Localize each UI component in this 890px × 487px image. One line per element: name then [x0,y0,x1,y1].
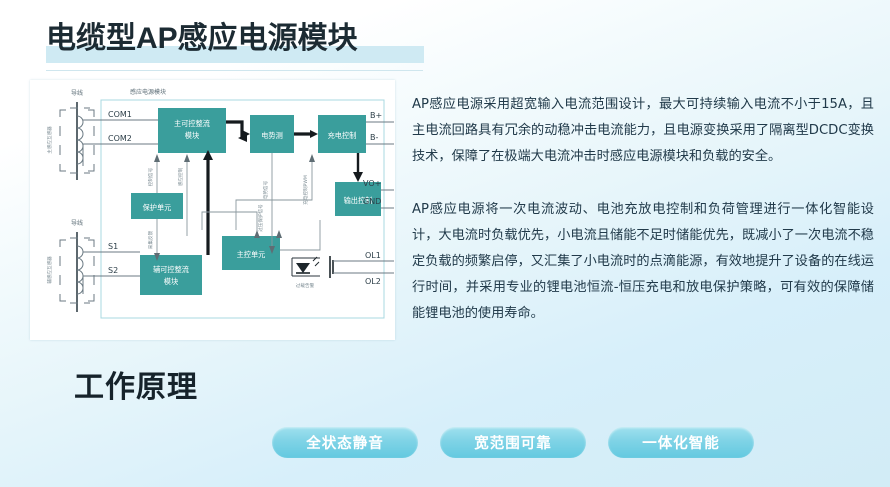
block-aux-rectifier: 辅可控整流 模块 [140,255,202,295]
description-paragraph-2: AP感应电源将一次电流波动、电池充放电控制和负荷管理进行一体化智能设计，大电流时… [412,197,874,327]
terminal-ol1: OL1 [365,251,381,260]
terminal-gnd: GND [363,197,381,206]
signal-label-3: 电势信号 [262,180,269,199]
ct-label-main: 主感应互感器 [46,126,53,154]
section-heading: 工作原理 [74,362,198,406]
feature-pill-wide-range[interactable]: 宽范围可靠 [440,427,586,458]
product-feature-page: 电缆型AP感应电源模块 导线 [0,0,890,487]
feature-pill-silent[interactable]: 全状态静音 [272,427,418,458]
alarm-label: 过载告警 [296,282,315,289]
feature-pill-row: 全状态静音 宽范围可靠 一体化智能 [272,427,754,458]
block-main-control-unit: 主控单元 [222,236,280,270]
svg-text:主控单元: 主控单元 [237,250,266,259]
block-potential-measure: 电势测 [250,115,294,153]
diagram-module-caption: 感应电源模块 [130,88,166,96]
block-protection-unit: 保护单元 [131,193,183,219]
schematic-diagram: 导线 主感应互感器 COM1 COM2 [30,80,395,340]
signal-label-6: 过压保护信号 [257,204,264,232]
page-title: 电缆型AP感应电源模块 [46,18,358,60]
description-paragraph-1: AP感应电源采用超宽输入电流范围设计，最大可持续输入电流不小于15A，且主电流回… [412,92,874,170]
wire-label-bottom: 导线 [71,219,83,227]
title-divider [46,70,423,71]
svg-text:模块: 模块 [164,277,178,286]
terminal-s2: S2 [108,266,118,275]
svg-text:模块: 模块 [185,131,199,140]
svg-text:电势测: 电势测 [261,131,283,140]
terminal-s1: S1 [108,242,118,251]
optocoupler-symbol: OL1 OL2 过载告警 [292,251,394,289]
signal-label-1: 控制信号 [147,167,154,186]
signal-label-2: 感应控制 [177,167,184,186]
svg-text:主可控整流: 主可控整流 [174,119,210,128]
schematic-diagram-panel: 导线 主感应互感器 COM1 COM2 [30,80,395,340]
block-main-rectifier: 主可控整流 模块 [158,108,226,153]
svg-text:保护单元: 保护单元 [143,203,172,212]
svg-text:辅可控整流: 辅可控整流 [153,265,189,274]
svg-text:充电控制: 充电控制 [328,131,357,140]
terminal-voplus: VO+ [363,179,381,188]
terminal-bplus: B+ [370,111,382,120]
ct-label-aux: 辅感应互感器 [46,256,53,284]
terminal-com2: COM2 [108,134,132,143]
terminal-bminus: B- [370,133,378,142]
terminal-ol2: OL2 [365,277,381,286]
block-charge-control: 充电控制 [318,115,366,153]
terminal-com1: COM1 [108,110,132,119]
signal-label-4: 充电控制PWM [302,175,309,205]
feature-pill-integrated[interactable]: 一体化智能 [608,427,754,458]
signal-label-5: 采集反馈 [147,230,154,249]
page-title-wrap: 电缆型AP感应电源模块 [46,18,466,70]
wire-label-top: 导线 [71,89,83,97]
